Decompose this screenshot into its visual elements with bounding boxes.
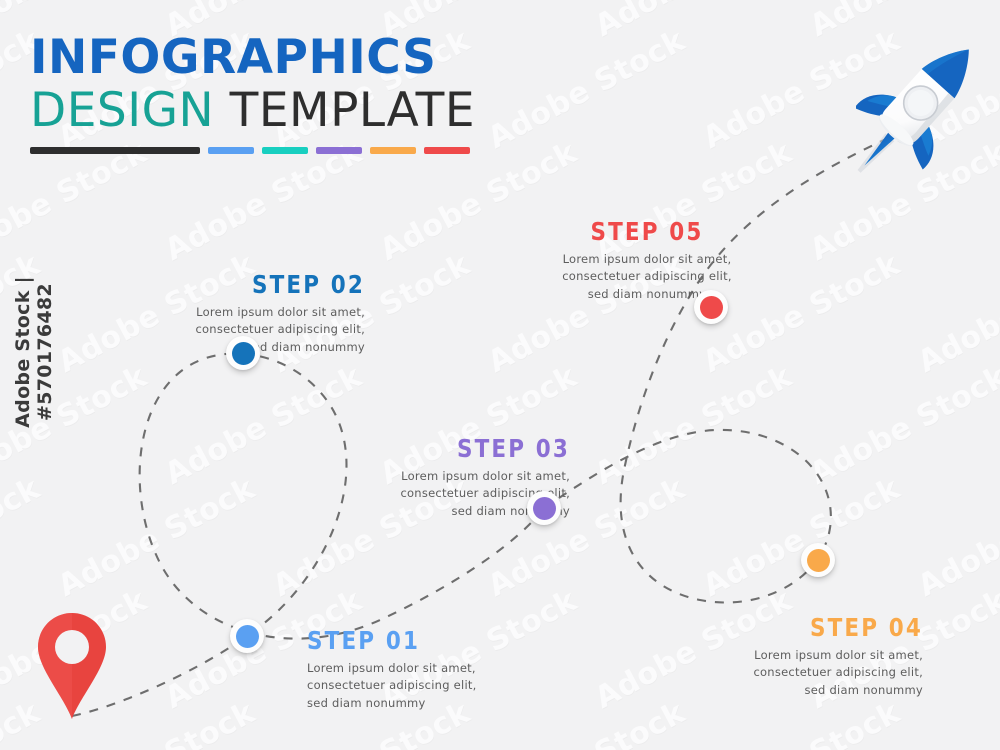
step-marker-dot <box>533 497 556 520</box>
title-word-design: DESIGN <box>30 83 214 138</box>
rule-bar-blue <box>208 147 254 154</box>
step-block-step-05[interactable]: STEP 05 Lorem ipsum dolor sit amet, cons… <box>522 219 772 303</box>
rule-bar-purple <box>316 147 362 154</box>
step-marker-dot <box>236 625 259 648</box>
rule-bar-red <box>424 147 470 154</box>
rule-bar-dark <box>30 147 200 154</box>
step-heading: STEP 04 <box>712 615 923 640</box>
step-body: Lorem ipsum dolor sit amet, consectetuer… <box>522 251 772 303</box>
step-heading: STEP 01 <box>307 628 505 653</box>
step-block-step-01[interactable]: STEP 01 Lorem ipsum dolor sit amet, cons… <box>307 628 537 712</box>
rule-bar-teal <box>262 147 308 154</box>
title-block: INFOGRAPHICS DESIGN TEMPLATE <box>30 34 475 154</box>
step-marker-step-04[interactable] <box>801 543 835 577</box>
step-marker-step-05[interactable] <box>694 290 728 324</box>
title-rule-row <box>30 147 475 154</box>
step-marker-step-01[interactable] <box>230 619 264 653</box>
title-line-2: DESIGN TEMPLATE <box>30 87 475 134</box>
side-watermark: Adobe Stock | #570176482 <box>12 222 56 482</box>
map-pin-icon <box>36 611 108 721</box>
step-heading: STEP 03 <box>359 436 570 461</box>
infographic-canvas: Adobe StockAdobe StockAdobe StockAdobe S… <box>0 0 1000 750</box>
step-marker-step-03[interactable] <box>527 491 561 525</box>
step-body: Lorem ipsum dolor sit amet, consectetuer… <box>678 647 923 699</box>
step-marker-dot <box>700 296 723 319</box>
step-block-step-04[interactable]: STEP 04 Lorem ipsum dolor sit amet, cons… <box>678 615 923 699</box>
title-word-template: TEMPLATE <box>214 83 475 138</box>
rule-bar-orange <box>370 147 416 154</box>
step-marker-dot <box>232 342 255 365</box>
title-line-1: INFOGRAPHICS <box>30 34 475 81</box>
step-heading: STEP 05 <box>540 219 755 244</box>
step-marker-step-02[interactable] <box>226 336 260 370</box>
step-marker-dot <box>807 549 830 572</box>
step-body: Lorem ipsum dolor sit amet, consectetuer… <box>307 660 537 712</box>
rocket-icon <box>856 18 981 193</box>
step-heading: STEP 02 <box>154 272 365 297</box>
